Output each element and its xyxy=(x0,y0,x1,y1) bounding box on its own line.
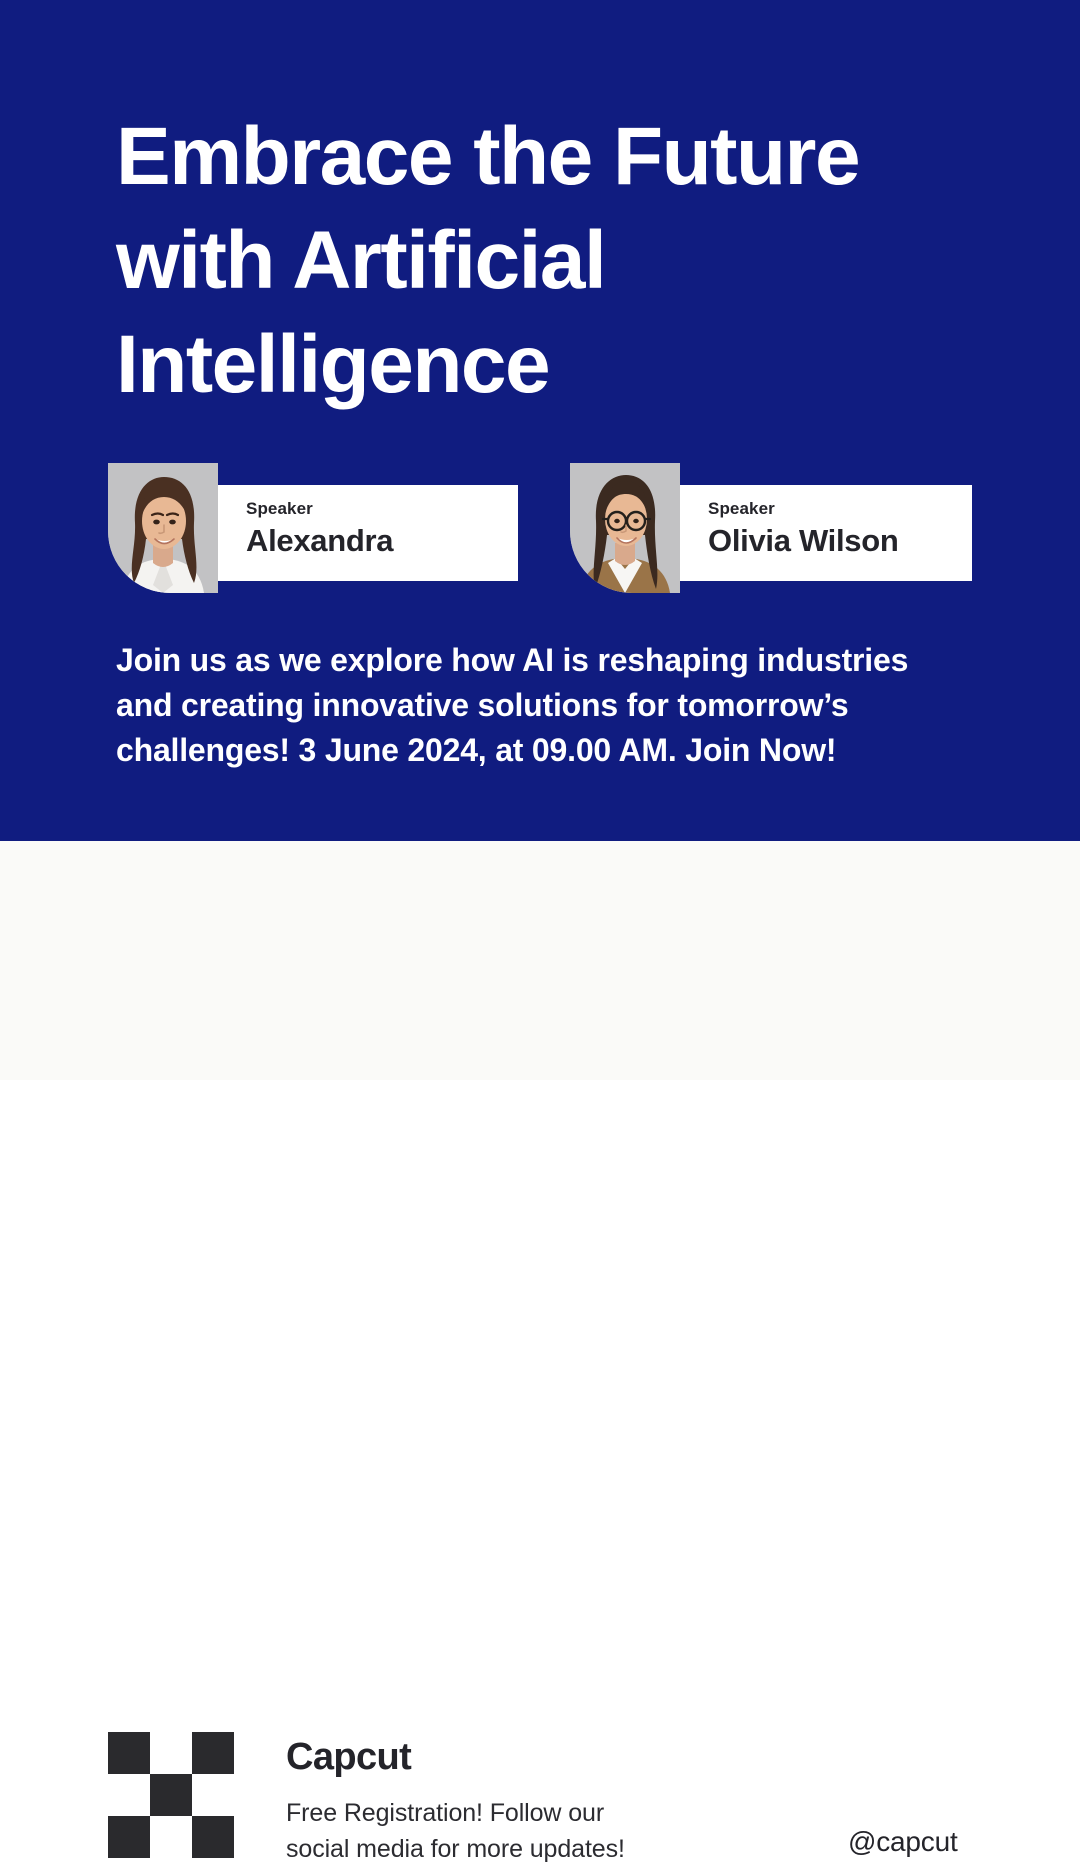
logo-cell-4 xyxy=(108,1774,150,1816)
tagline-line-1: Free Registration! Follow our xyxy=(286,1795,726,1831)
headline-line-1: Embrace the Future xyxy=(116,105,1016,209)
tagline-line-2: social media for more updates! xyxy=(286,1831,726,1867)
description-line-3: challenges! 3 June 2024, at 09.00 AM. Jo… xyxy=(116,728,996,773)
logo-cell-7 xyxy=(108,1816,150,1858)
speaker-card: Speaker Olivia Wilson xyxy=(570,463,972,593)
logo-cell-2 xyxy=(150,1732,192,1774)
logo-cell-1 xyxy=(108,1732,150,1774)
speaker-name-plate: Speaker Olivia Wilson xyxy=(660,485,972,581)
page-title: Embrace the Future with Artificial Intel… xyxy=(116,105,1016,417)
headline-line-2: with Artificial xyxy=(116,209,1016,313)
poster-canvas: Embrace the Future with Artificial Intel… xyxy=(0,0,1080,1080)
event-description: Join us as we explore how AI is reshapin… xyxy=(116,638,996,773)
speaker-role-label: Speaker xyxy=(708,499,972,519)
brand-tagline: Free Registration! Follow our social med… xyxy=(286,1795,726,1867)
footer-bar: Capcut Free Registration! Follow our soc… xyxy=(0,841,1080,1080)
capcut-checkerboard-logo-icon xyxy=(108,1732,234,1858)
speaker-name: Alexandra xyxy=(246,521,518,561)
speaker-card: Speaker Alexandra xyxy=(108,463,518,593)
social-handle[interactable]: @capcut xyxy=(848,1825,958,1859)
speaker-list: Speaker Alexandra xyxy=(108,463,988,593)
speaker-photo-alexandra xyxy=(108,463,218,593)
logo-cell-5 xyxy=(150,1774,192,1816)
speaker-photo-olivia-wilson xyxy=(570,463,680,593)
logo-cell-3 xyxy=(192,1732,234,1774)
logo-cell-9 xyxy=(192,1816,234,1858)
logo-cell-6 xyxy=(192,1774,234,1816)
brand-name: Capcut xyxy=(286,1734,411,1780)
headline-line-3: Intelligence xyxy=(116,313,1016,417)
description-line-2: and creating innovative solutions for to… xyxy=(116,683,996,728)
description-line-1: Join us as we explore how AI is reshapin… xyxy=(116,638,996,683)
speaker-name: Olivia Wilson xyxy=(708,521,972,561)
logo-cell-8 xyxy=(150,1816,192,1858)
speaker-role-label: Speaker xyxy=(246,499,518,519)
speaker-name-plate: Speaker Alexandra xyxy=(198,485,518,581)
hero-panel: Embrace the Future with Artificial Intel… xyxy=(0,0,1080,841)
